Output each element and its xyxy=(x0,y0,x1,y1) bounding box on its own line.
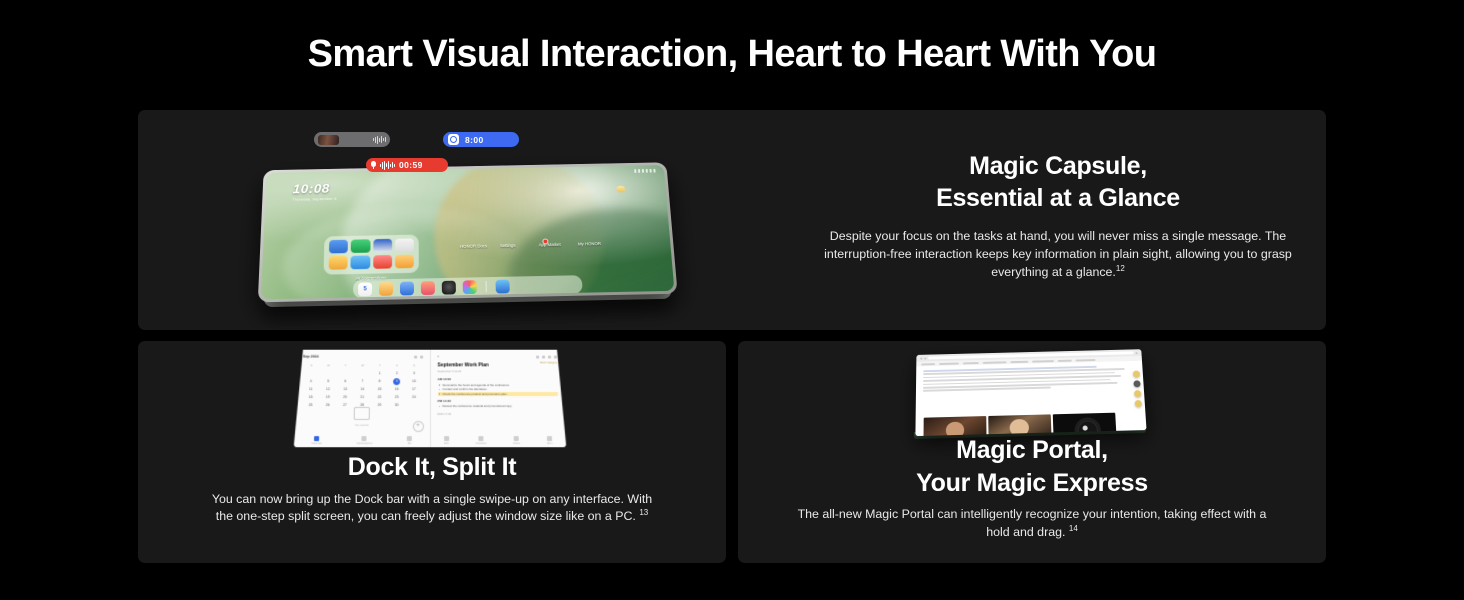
files-icon xyxy=(329,240,348,254)
alarm-icon xyxy=(448,134,459,145)
dock-divider xyxy=(486,281,487,292)
notes-app[interactable]: ‹ September Work Plan September 5 14:26 … xyxy=(430,350,566,447)
person-icon xyxy=(407,436,412,441)
subscriptions-icon xyxy=(362,436,367,441)
body-text: The all-new Magic Portal can intelligent… xyxy=(798,507,1267,539)
calendar-day[interactable]: 16 xyxy=(388,386,405,393)
calendar-day[interactable] xyxy=(337,370,354,377)
more-icon xyxy=(547,436,552,441)
notes-tab-bar: Edit Checklist Share More xyxy=(431,436,567,445)
alarm-time: 8:00 xyxy=(465,135,484,145)
calendar-day[interactable]: 3 xyxy=(405,370,422,377)
browser-icon[interactable] xyxy=(495,279,509,293)
footnote-marker: 14 xyxy=(1069,524,1078,533)
calendar-app[interactable]: Sep 2024 S M T W T F S xyxy=(294,350,431,447)
media-capsule[interactable] xyxy=(314,132,390,147)
tab-label: Calendar xyxy=(311,442,322,445)
calendar-day[interactable]: 17 xyxy=(405,386,422,393)
calendar-day[interactable]: 4 xyxy=(302,378,319,385)
calendar-day[interactable]: 14 xyxy=(354,386,371,393)
magic-portal-heading: Magic Portal, Your Magic Express xyxy=(738,434,1326,499)
browser-illustration xyxy=(738,341,1326,441)
notes-header-icons[interactable] xyxy=(536,355,557,358)
app-market[interactable]: App Market xyxy=(538,239,555,247)
portal-app-icon[interactable] xyxy=(1135,400,1142,407)
weekday-label: M xyxy=(320,362,337,369)
note-section-heading: AM 10:00 xyxy=(437,377,557,381)
waveform-icon xyxy=(380,161,395,170)
tablet-frame: 10:08 Thursday, September 5 xyxy=(258,162,678,302)
tab-calendar[interactable]: Calendar xyxy=(311,436,322,445)
forward-icon[interactable] xyxy=(924,357,926,359)
app-honor-docs[interactable]: HONOR Docs xyxy=(460,241,477,249)
menu-icon[interactable] xyxy=(1135,352,1137,354)
heading-line-2: Essential at a Glance xyxy=(798,182,1318,214)
magic-portal-sidebar[interactable] xyxy=(1133,371,1142,408)
body-text: You can now bring up the Dock bar with a… xyxy=(212,492,652,524)
note-meta: September 5 14:26 xyxy=(437,369,557,373)
panel-magic-capsule: 8:00 00:59 xyxy=(138,110,1326,330)
magic-portal-copy: Magic Portal, Your Magic Express The all… xyxy=(738,434,1326,542)
calendar-day[interactable]: 13 xyxy=(337,386,354,393)
calendar-day[interactable]: 6 xyxy=(337,378,354,385)
notes-icon[interactable] xyxy=(379,281,393,295)
add-event-button[interactable]: + xyxy=(412,421,423,432)
split-screen-illustration: Sep 2024 S M T W T F S xyxy=(138,341,726,453)
tab-checklist[interactable]: Checklist xyxy=(476,436,487,445)
calendar-day[interactable]: 1 xyxy=(371,370,388,377)
note-footer: END 17:00 xyxy=(438,412,559,416)
weekday-label: F xyxy=(388,362,405,369)
calendar-day[interactable]: 18 xyxy=(302,394,319,401)
tab-label: Share xyxy=(513,442,520,445)
calendar-day[interactable]: 10 xyxy=(405,378,422,385)
footnote-marker: 13 xyxy=(639,508,648,517)
calendar-day[interactable]: 20 xyxy=(336,394,353,401)
edit-icon xyxy=(444,436,449,441)
portal-app-icon[interactable] xyxy=(1134,390,1141,397)
microphone-icon xyxy=(371,161,376,169)
browser-content xyxy=(915,361,1146,436)
calendar-icon xyxy=(373,255,392,269)
body-text: Despite your focus on the tasks at hand,… xyxy=(824,229,1292,279)
mail-icon xyxy=(395,255,414,269)
camera-icon[interactable] xyxy=(442,280,456,294)
tab-more[interactable]: More xyxy=(547,436,553,445)
empty-state-label: No events xyxy=(294,423,429,427)
note-section-heading: PM 14:30 xyxy=(438,399,559,403)
notes-icon xyxy=(395,238,414,252)
calendar-header-icons[interactable] xyxy=(414,355,423,358)
magic-capsule-body: Despite your focus on the tasks at hand,… xyxy=(798,228,1318,282)
calendar-day[interactable]: 24 xyxy=(405,394,422,401)
weather-icon xyxy=(616,186,625,193)
heading-line-1: Magic Capsule, xyxy=(798,150,1318,182)
promo-page: Smart Visual Interaction, Heart to Heart… xyxy=(0,0,1464,600)
heading-line-1: Magic Portal, xyxy=(738,434,1326,467)
photos-icon[interactable] xyxy=(463,280,477,294)
calendar-icon[interactable]: 5 xyxy=(358,282,372,296)
calendar-grid[interactable]: S M T W T F S 1 2 3 4 xyxy=(302,362,423,409)
calendar-day[interactable]: 11 xyxy=(302,386,319,393)
calendar-day[interactable] xyxy=(320,370,337,377)
magic-portal-body: The all-new Magic Portal can intelligent… xyxy=(738,506,1326,542)
notes-back-icon[interactable]: ‹ xyxy=(437,355,438,359)
calendar-day[interactable]: 22 xyxy=(371,394,388,401)
calendar-day[interactable]: 21 xyxy=(354,394,371,401)
alarm-capsule[interactable]: 8:00 xyxy=(443,132,519,147)
calendar-day[interactable]: 12 xyxy=(319,386,336,393)
tablet-device[interactable]: 10:08 Thursday, September 5 xyxy=(258,162,678,302)
magic-capsule-heading: Magic Capsule, Essential at a Glance xyxy=(798,150,1318,214)
ai-suggestions-folder[interactable] xyxy=(324,235,419,275)
calendar-day[interactable]: 2 xyxy=(388,370,405,377)
gallery-icon[interactable] xyxy=(400,281,414,295)
notes-header: ‹ xyxy=(437,355,557,359)
contacts-icon xyxy=(351,239,370,253)
waveform-icon xyxy=(373,135,386,144)
status-bar-icons xyxy=(634,169,655,173)
app-label: HONOR Docs xyxy=(460,244,477,249)
tab-edit[interactable]: Edit xyxy=(444,436,449,445)
magic-capsule-copy: Magic Capsule, Essential at a Glance Des… xyxy=(798,150,1318,282)
calendar-day-selected[interactable]: 9 xyxy=(393,378,400,385)
dock-bar[interactable]: 5 xyxy=(353,275,583,298)
calendar-day[interactable]: 15 xyxy=(371,386,388,393)
clock-date: Thursday, September 5 xyxy=(292,196,336,201)
page-title: Smart Visual Interaction, Heart to Heart… xyxy=(0,33,1464,76)
calendar-day[interactable]: 5 xyxy=(319,378,336,385)
weather-icon xyxy=(329,256,348,270)
browser-window[interactable] xyxy=(915,349,1146,436)
split-screen-device[interactable]: Sep 2024 S M T W T F S xyxy=(294,350,567,447)
calendar-header: Sep 2024 xyxy=(303,355,423,359)
note-tag[interactable]: Work Category xyxy=(540,361,557,364)
tab-label: More xyxy=(547,442,553,445)
empty-box-icon xyxy=(354,407,370,420)
panel-magic-portal: Magic Portal, Your Magic Express The all… xyxy=(738,341,1326,563)
tablet-screen: 10:08 Thursday, September 5 xyxy=(261,165,675,299)
dock-split-body: You can now bring up the Dock bar with a… xyxy=(138,491,726,527)
calendar-day[interactable]: 19 xyxy=(319,394,336,401)
heading-line-2: Your Magic Express xyxy=(738,467,1326,500)
recording-timer: 00:59 xyxy=(399,160,423,170)
app-label: Settings xyxy=(499,243,516,248)
dock-split-heading: Dock It, Split It xyxy=(138,451,726,484)
calendar-day[interactable]: 23 xyxy=(388,394,405,401)
weekday-label: S xyxy=(303,362,320,369)
portal-app-icon[interactable] xyxy=(1133,380,1140,387)
calendar-tab-bar: Calendar Subscriptions Me xyxy=(294,436,430,445)
calendar-day[interactable]: 8 xyxy=(371,378,388,385)
notification-badge xyxy=(542,239,548,245)
calendar-title: Sep 2024 xyxy=(303,355,319,359)
clock-widget[interactable]: 10:08 Thursday, September 5 xyxy=(292,181,337,202)
tab-label: Subscriptions xyxy=(357,442,373,445)
weekday-label: S xyxy=(405,362,422,369)
app-settings[interactable]: Settings xyxy=(499,240,516,248)
portal-app-icon[interactable] xyxy=(1133,371,1140,378)
footnote-marker: 12 xyxy=(1116,264,1125,273)
calendar-day[interactable]: 7 xyxy=(354,378,371,385)
checklist-icon xyxy=(478,436,483,441)
phone-icon xyxy=(373,239,392,253)
calendar-day[interactable] xyxy=(303,370,320,377)
tab-label: Me xyxy=(407,442,412,445)
tab-label: Checklist xyxy=(476,442,487,445)
media-thumbnail xyxy=(318,135,339,145)
app-label: My HONOR xyxy=(578,241,595,246)
note-list-item: Review the conference material and promo… xyxy=(438,404,559,409)
tab-me[interactable]: Me xyxy=(407,436,412,445)
app-my-honor[interactable]: My HONOR xyxy=(578,239,595,247)
share-icon xyxy=(514,436,519,441)
panel-dock-split: Sep 2024 S M T W T F S xyxy=(138,341,726,563)
weekday-label: T xyxy=(371,362,388,369)
weekday-label: T xyxy=(337,362,354,369)
recording-capsule[interactable]: 00:59 xyxy=(366,158,448,172)
back-icon[interactable] xyxy=(920,357,922,359)
calendar-empty-state: No events xyxy=(294,407,429,427)
health-icon xyxy=(351,255,370,269)
note-list-item: Check the conference product and promoti… xyxy=(437,392,557,397)
clock-time: 10:08 xyxy=(293,181,338,197)
tab-subscriptions[interactable]: Subscriptions xyxy=(357,436,373,445)
files-icon[interactable] xyxy=(421,281,435,295)
calendar-icon xyxy=(314,436,319,441)
tab-label: Edit xyxy=(444,442,449,445)
calendar-day[interactable] xyxy=(354,370,371,377)
weekday-label: W xyxy=(354,362,371,369)
tab-share[interactable]: Share xyxy=(513,436,520,445)
tablet-illustration: 8:00 00:59 xyxy=(138,110,798,330)
dock-split-copy: Dock It, Split It You can now bring up t… xyxy=(138,451,726,526)
